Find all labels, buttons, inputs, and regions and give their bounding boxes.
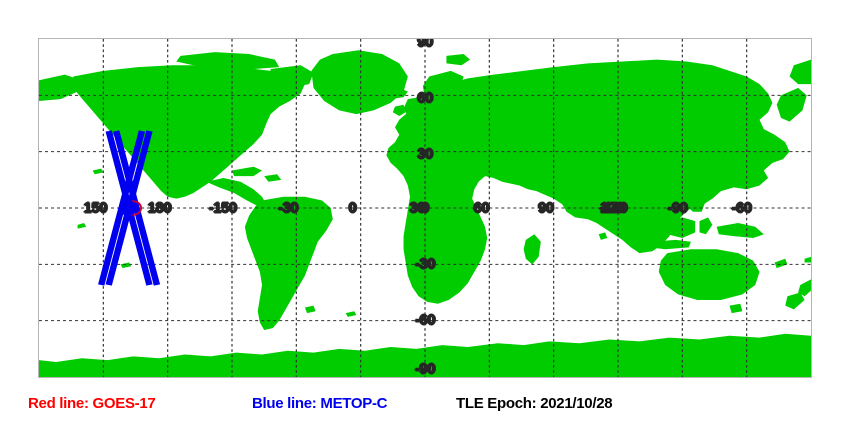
legend-epoch-label: TLE Epoch:	[456, 395, 536, 412]
lon-tick-180: 180	[148, 201, 172, 216]
lat-tick--30: -30	[415, 257, 435, 272]
legend-entry-blue: Blue line: METOP-C	[252, 396, 387, 411]
legend-blue-value: METOP-C	[320, 395, 387, 412]
lon-tick-150: 150	[84, 201, 108, 216]
lat-tick--60: -60	[415, 313, 435, 328]
lon-tick--120: -120	[599, 201, 627, 216]
lon-tick--60: -60	[731, 201, 751, 216]
lat-tick--90: -90	[415, 361, 435, 376]
lon-tick--90: -90	[667, 201, 687, 216]
lat-tick-30: 30	[417, 146, 433, 161]
lat-tick-0: 0	[421, 201, 429, 216]
lon-tick-90: 90	[538, 201, 554, 216]
lon-tick-0: 0	[349, 201, 357, 216]
lat-tick-60: 60	[417, 90, 433, 105]
lon-tick-60: 60	[474, 201, 490, 216]
lon-tick--30: -30	[278, 201, 298, 216]
legend-entry-red: Red line: GOES-17	[28, 396, 155, 411]
legend-red-value: GOES-17	[93, 395, 156, 412]
legend-red-label: Red line:	[28, 395, 89, 412]
legend-entry-epoch: TLE Epoch: 2021/10/28	[456, 396, 612, 411]
lon-tick--150: -150	[209, 201, 237, 216]
legend-blue-label: Blue line:	[252, 395, 317, 412]
legend-epoch-value: 2021/10/28	[540, 395, 612, 412]
metopc-marker-icon	[119, 200, 137, 215]
legend-bar: Red line: GOES-17 Blue line: METOP-C TLE…	[0, 392, 850, 420]
world-map-panel: -30 0 30 60 90 120 150 180 -150 -120 -90…	[38, 38, 812, 378]
lat-tick-90: 90	[417, 38, 433, 49]
